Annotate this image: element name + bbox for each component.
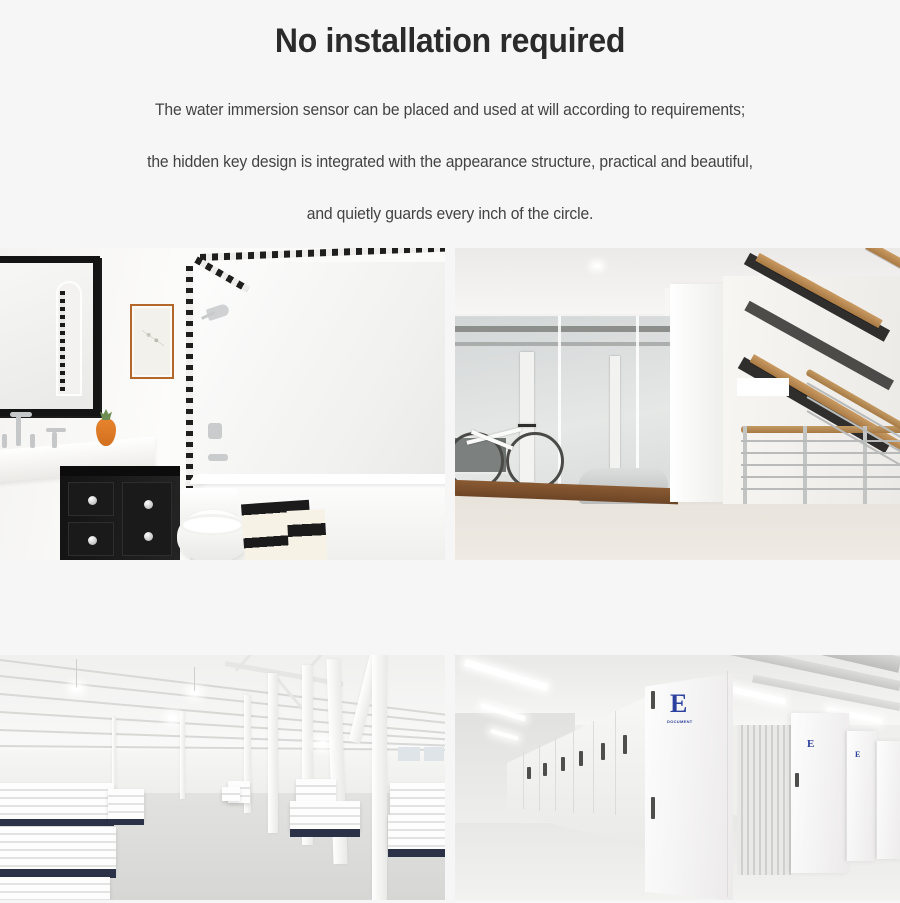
shelf-handle-5[interactable]	[601, 743, 605, 760]
warehouse-lamp-4	[318, 741, 327, 747]
warehouse-column-2	[180, 711, 185, 799]
subtitle-line-1: The water immersion sensor can be placed…	[23, 84, 878, 136]
railing-cable-4	[741, 476, 900, 478]
bathroom-framed-art	[130, 304, 174, 379]
archive-unit-letter-2: E	[807, 739, 814, 750]
sack-stack-2	[0, 827, 116, 871]
pallet-4	[290, 829, 360, 837]
subtitle-line-3: and quietly guards every inch of the cir…	[23, 188, 878, 240]
washroom-photo	[0, 248, 445, 560]
image-gallery: Washroom Basement	[0, 248, 900, 900]
open-aisle-rack	[737, 725, 791, 875]
shelf-handle-2[interactable]	[543, 763, 547, 776]
shelving-unit-3[interactable]	[847, 731, 877, 861]
pallet-1	[0, 819, 114, 826]
faucet-handle-right	[30, 434, 35, 448]
gallery-cell-washroom[interactable]	[0, 248, 445, 560]
bathroom-art-canvas	[132, 306, 172, 377]
shelf-handle-1[interactable]	[527, 767, 531, 779]
gallery-cell-warehouse[interactable]	[0, 655, 445, 900]
warehouse-photo	[0, 655, 445, 900]
shelf-seam-2	[539, 745, 540, 811]
gallery-cell-basement[interactable]	[455, 248, 900, 560]
gallery-row-bottom: E DOCUMENT E E	[0, 655, 900, 900]
gallery-gutter-bottom	[445, 655, 455, 900]
page-title: No installation required	[27, 18, 873, 64]
pallet-5	[388, 849, 445, 857]
stair-landing	[737, 378, 789, 396]
archive-room-photo: E DOCUMENT E E	[455, 655, 900, 900]
shelf-handle-6[interactable]	[623, 735, 627, 754]
vanity-knob-3[interactable]	[144, 500, 153, 509]
vanity-knob-4[interactable]	[144, 532, 153, 541]
faucet-handle-left	[2, 434, 7, 448]
bicycle-handlebar	[518, 424, 536, 427]
railing-cable-3	[741, 464, 900, 466]
sack-stack-3	[0, 877, 110, 900]
bathroom-mirror	[0, 256, 100, 416]
warehouse-window-1	[398, 747, 420, 761]
balustrade-handrail	[741, 426, 900, 433]
shelf-seam-5	[593, 721, 594, 813]
bathroom-vanity	[60, 466, 180, 560]
warehouse-lamp-stem-2	[194, 667, 195, 691]
gallery-cell-archive[interactable]: E DOCUMENT E E	[455, 655, 900, 900]
warehouse-window-2	[424, 747, 444, 761]
shelf-seam-4	[573, 731, 574, 813]
subtitle-block: The water immersion sensor can be placed…	[0, 84, 900, 240]
pallet-3	[108, 819, 144, 825]
shelf-handle-4[interactable]	[579, 751, 583, 766]
toilet-seat	[180, 514, 244, 536]
sack-stack-9	[388, 815, 445, 851]
basement-corner-column	[670, 284, 728, 502]
warehouse-lamp-3	[168, 715, 177, 721]
garage-ceiling-beam-1	[455, 326, 672, 332]
shelf-seam-7	[845, 731, 846, 861]
vanity-knob-2[interactable]	[88, 536, 97, 545]
bathroom-tile-crown	[200, 248, 445, 261]
shelving-unit-front[interactable]	[645, 673, 733, 900]
shelf-seam-1	[523, 751, 524, 809]
tub-spout	[208, 454, 228, 461]
archive-unit-subtext: DOCUMENT	[667, 719, 693, 724]
faucet-spout	[16, 416, 21, 446]
faucet-second-neck	[46, 428, 66, 432]
front-unit-handle-bottom[interactable]	[651, 797, 655, 819]
sack-stack-1	[0, 783, 114, 821]
header: No installation required The water immer…	[0, 0, 900, 240]
shelf-handle-3[interactable]	[561, 757, 565, 771]
railing-cable-5	[741, 488, 900, 490]
faucet-second-handle	[52, 432, 57, 448]
subtitle-line-2: the hidden key design is integrated with…	[23, 136, 878, 188]
warehouse-lamp-stem-1	[76, 659, 77, 687]
striped-towel-secondary	[287, 509, 328, 560]
basement-photo	[455, 248, 900, 560]
vanity-knob-1[interactable]	[88, 496, 97, 505]
warehouse-column-4	[268, 673, 278, 833]
sack-stack-7	[290, 801, 360, 831]
bathtub-rim	[190, 474, 445, 484]
faucet-neck	[10, 412, 32, 417]
shelf-seam-6	[615, 711, 616, 815]
gallery-gutter-top	[445, 248, 455, 560]
ceiling-downlight-1	[593, 264, 601, 268]
front-unit-handle-top[interactable]	[651, 691, 655, 709]
shelf-seam-8	[875, 741, 876, 859]
garage-ceiling-beam-2	[455, 342, 672, 346]
shelving-unit-4[interactable]	[877, 741, 900, 859]
garage-pillar-2	[610, 356, 620, 476]
archive-unit-letter: E	[670, 691, 687, 717]
sack-stack-8	[390, 783, 445, 817]
railing-cable-1	[741, 440, 900, 442]
sack-stack-4	[108, 789, 144, 821]
warehouse-column-7	[372, 655, 387, 900]
shelving-unit-2[interactable]	[791, 713, 849, 873]
sack-stack-10	[222, 787, 240, 801]
vanity-door	[122, 482, 172, 556]
bathroom-window-arch	[56, 281, 82, 396]
shelf-handle-7[interactable]	[795, 773, 799, 787]
basement-glass-partition	[455, 316, 672, 496]
shelf-seam-3	[555, 739, 556, 811]
archive-unit-letter-3: E	[855, 751, 860, 759]
gallery-row-top	[0, 248, 900, 560]
front-unit-edge	[727, 671, 728, 897]
tub-valve	[208, 423, 222, 439]
